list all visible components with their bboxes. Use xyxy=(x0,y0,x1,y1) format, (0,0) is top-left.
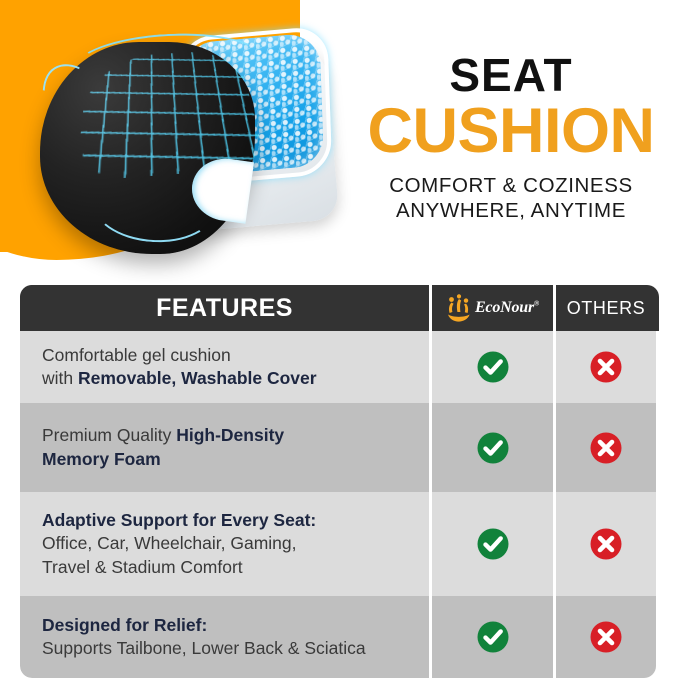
cross-circle-icon xyxy=(589,527,623,561)
econour-mark-cell xyxy=(432,596,556,678)
others-mark-cell xyxy=(556,596,656,678)
check-circle-icon xyxy=(476,527,510,561)
check-circle-icon xyxy=(476,350,510,384)
cross-circle-icon xyxy=(589,620,623,654)
comparison-table: FEATURES EcoNour® OTHERS Comfortable gel… xyxy=(20,285,659,678)
subtitle-line-2: ANYWHERE, ANYTIME xyxy=(352,198,670,223)
econour-mark-cell xyxy=(432,492,556,596)
cross-circle-icon xyxy=(589,350,623,384)
feature-line: Comfortable gel cushion xyxy=(42,344,231,367)
feature-highlight: Removable, Washable Cover xyxy=(78,368,317,388)
feature-line: with Removable, Washable Cover xyxy=(42,367,317,390)
feature-text: with xyxy=(42,368,78,388)
feature-text: Premium Quality xyxy=(42,425,176,445)
feature-line: Adaptive Support for Every Seat: xyxy=(42,509,316,532)
check-circle-icon xyxy=(476,431,510,465)
econour-mark-cell xyxy=(432,331,556,403)
feature-cell: Adaptive Support for Every Seat: Office,… xyxy=(20,492,432,596)
title-seat: SEAT xyxy=(352,52,670,99)
econour-logo: EcoNour® xyxy=(446,293,539,323)
feature-line: Supports Tailbone, Lower Back & Sciatica xyxy=(42,637,366,660)
subtitle-block: COMFORT & COZINESS ANYWHERE, ANYTIME xyxy=(352,173,670,223)
others-mark-cell xyxy=(556,403,656,492)
check-circle-icon xyxy=(476,620,510,654)
econour-wordmark: EcoNour® xyxy=(475,299,539,317)
table-row: Adaptive Support for Every Seat: Office,… xyxy=(20,492,659,596)
feature-line: Premium Quality High-Density xyxy=(42,424,284,447)
others-mark-cell xyxy=(556,331,656,403)
column-header-econour: EcoNour® xyxy=(432,285,556,331)
hero-section: SEAT CUSHION COMFORT & COZINESS ANYWHERE… xyxy=(0,0,679,284)
title-cushion: CUSHION xyxy=(352,101,670,163)
column-header-others: OTHERS xyxy=(556,285,656,331)
feature-cell: Comfortable gel cushion with Removable, … xyxy=(20,331,432,403)
registered-trademark-icon: ® xyxy=(534,300,539,308)
column-header-features: FEATURES xyxy=(20,285,432,331)
econour-figure-icon xyxy=(446,293,472,323)
table-row: Premium Quality High-Density Memory Foam xyxy=(20,403,659,492)
feature-highlight: High-Density xyxy=(176,425,284,445)
product-image xyxy=(32,18,332,266)
feature-cell: Designed for Relief: Supports Tailbone, … xyxy=(20,596,432,678)
table-row: Comfortable gel cushion with Removable, … xyxy=(20,331,659,403)
others-mark-cell xyxy=(556,492,656,596)
feature-line: Travel & Stadium Comfort xyxy=(42,556,243,579)
feature-line: Designed for Relief: xyxy=(42,614,207,637)
econour-mark-cell xyxy=(432,403,556,492)
headline-block: SEAT CUSHION COMFORT & COZINESS ANYWHERE… xyxy=(352,52,670,223)
cross-circle-icon xyxy=(589,431,623,465)
feature-line: Office, Car, Wheelchair, Gaming, xyxy=(42,532,297,555)
table-header-row: FEATURES EcoNour® OTHERS xyxy=(20,285,659,331)
feature-cell: Premium Quality High-Density Memory Foam xyxy=(20,403,432,492)
subtitle-line-1: COMFORT & COZINESS xyxy=(352,173,670,198)
feature-line: Memory Foam xyxy=(42,448,161,471)
table-row: Designed for Relief: Supports Tailbone, … xyxy=(20,596,659,678)
